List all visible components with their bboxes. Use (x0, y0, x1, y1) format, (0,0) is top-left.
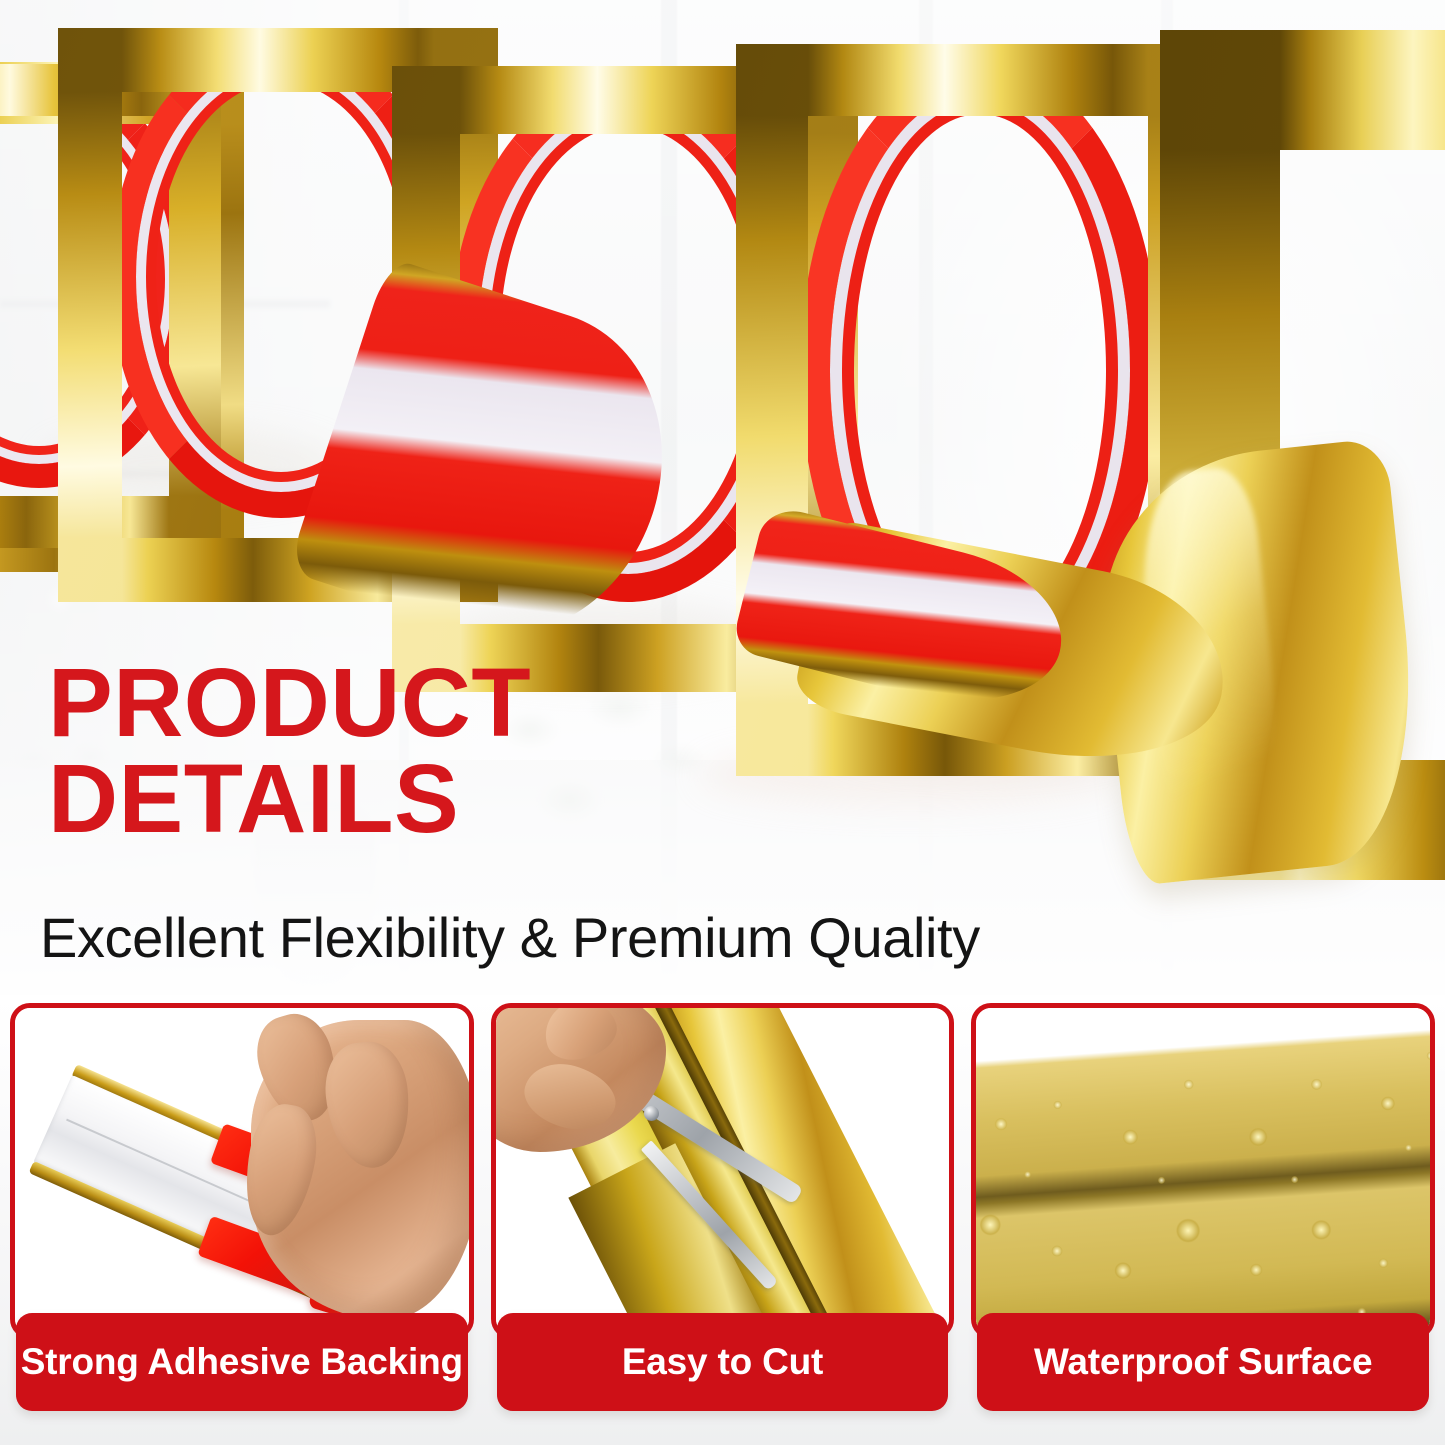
water-droplets-on-gold-tape-image (976, 1008, 1430, 1334)
feature-caption-bar: Waterproof Surface (977, 1313, 1429, 1411)
feature-panel-waterproof: Waterproof Surface (971, 1003, 1435, 1428)
feature-panel-cutting: Easy to Cut (491, 1003, 955, 1428)
feature-caption-bar: Easy to Cut (497, 1313, 949, 1411)
hero-section: PRODUCT DETAILS Excellent Flexibility & … (0, 0, 1445, 995)
feature-panel-adhesive: Strong Adhesive Backing (10, 1003, 474, 1428)
feature-caption-bar: Strong Adhesive Backing (16, 1313, 468, 1411)
feature-panel-frame (971, 1003, 1435, 1339)
headline-line-1: PRODUCT (48, 655, 531, 751)
feature-caption-label: Waterproof Surface (1034, 1341, 1372, 1383)
feature-panels: Strong Adhesive Backing (0, 998, 1445, 1445)
scissors-pivot-screw (644, 1106, 659, 1121)
feature-caption-label: Strong Adhesive Backing (21, 1341, 463, 1383)
feature-caption-label: Easy to Cut (622, 1341, 823, 1383)
headline-line-2: DETAILS (48, 751, 531, 847)
hand-peeling-red-liner-image (15, 1008, 469, 1334)
feature-panel-frame (491, 1003, 955, 1339)
product-details-poster: PRODUCT DETAILS Excellent Flexibility & … (0, 0, 1445, 1445)
feature-panel-frame (10, 1003, 474, 1339)
page-title: PRODUCT DETAILS (48, 655, 531, 847)
page-subtitle: Excellent Flexibility & Premium Quality (40, 905, 980, 970)
scissors-cutting-tape-image (496, 1008, 950, 1334)
water-droplet-pattern (976, 1008, 1430, 1334)
gold-tape-wet-surface (976, 1008, 1430, 1334)
